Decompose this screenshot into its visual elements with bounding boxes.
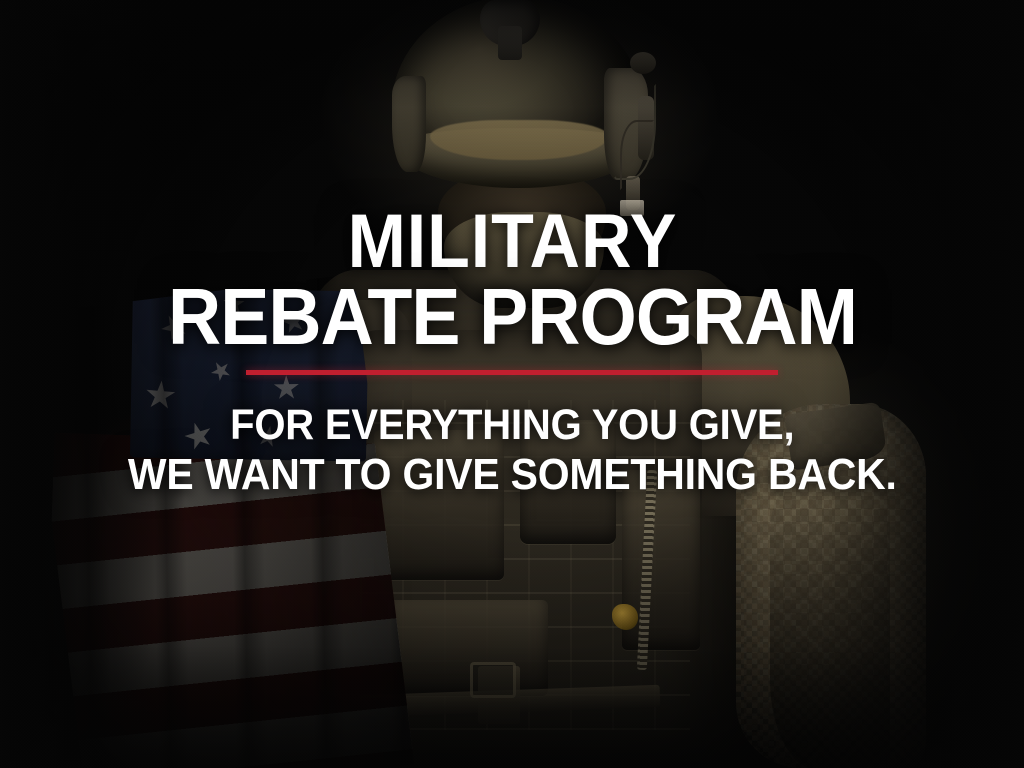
headline-line-1: MILITARY	[167, 206, 856, 279]
slide-canvas: MILITARY REBATE PROGRAM FOR EVERYTHING Y…	[0, 0, 1024, 768]
headline-line-2: REBATE PROGRAM	[167, 279, 856, 356]
subtitle: FOR EVERYTHING YOU GIVE, WE WANT TO GIVE…	[128, 401, 897, 500]
text-overlay: MILITARY REBATE PROGRAM FOR EVERYTHING Y…	[0, 0, 1024, 768]
red-divider-rule	[246, 370, 778, 375]
subtitle-line-2: WE WANT TO GIVE SOMETHING BACK.	[128, 450, 897, 500]
subtitle-line-1: FOR EVERYTHING YOU GIVE,	[128, 401, 897, 450]
page-title: MILITARY REBATE PROGRAM	[167, 206, 856, 356]
divider-container	[0, 370, 1024, 375]
